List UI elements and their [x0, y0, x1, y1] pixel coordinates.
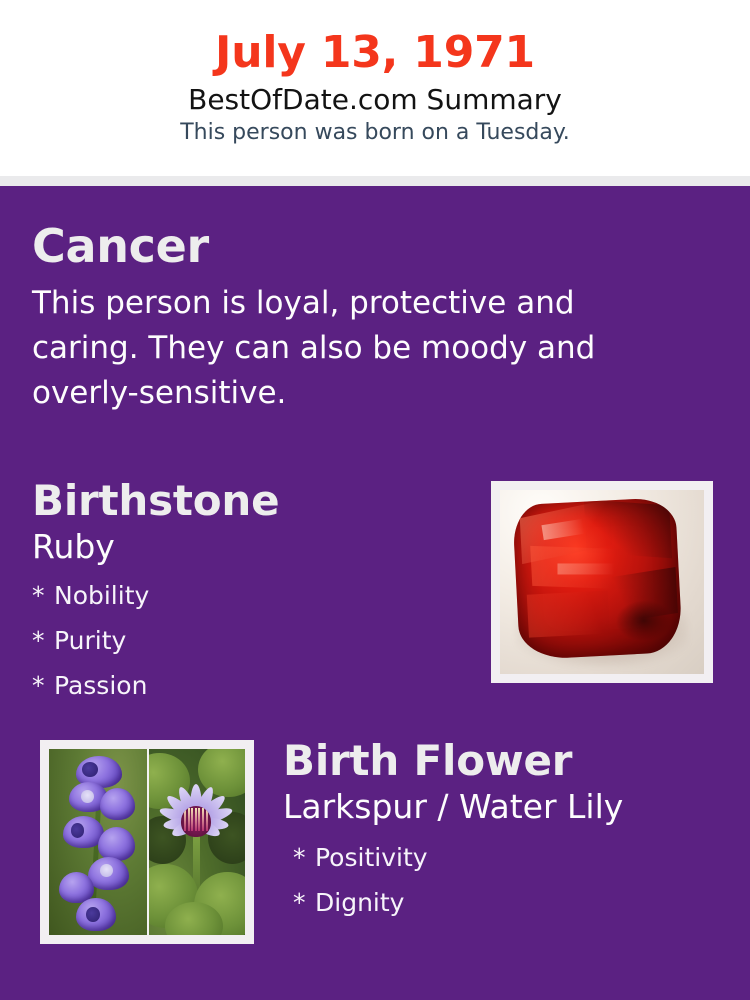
- list-item: *Passion: [32, 663, 472, 708]
- birth-flower-name: Larkspur / Water Lily: [283, 786, 733, 827]
- bullet-star-icon: *: [32, 663, 54, 708]
- birth-flower-heading: Birth Flower: [283, 736, 733, 786]
- list-item: *Nobility: [32, 573, 472, 618]
- birthstone-heading: Birthstone: [32, 476, 472, 526]
- gem-facet: [527, 590, 611, 637]
- list-item: *Positivity: [283, 835, 733, 880]
- birth-flower-trait-label: Positivity: [315, 843, 428, 872]
- page-title: July 13, 1971: [0, 0, 750, 79]
- bullet-star-icon: *: [32, 618, 54, 663]
- birthstone-trait-label: Passion: [54, 671, 147, 700]
- header-divider: [0, 176, 750, 186]
- birth-flower-trait-label: Dignity: [315, 888, 404, 917]
- summary-card: July 13, 1971 BestOfDate.com Summary Thi…: [0, 0, 750, 1000]
- ruby-gemstone-photo: [500, 490, 704, 674]
- birthstone-trait-list: *Nobility *Purity *Passion: [32, 567, 472, 708]
- larkspur-bloom: [100, 788, 135, 820]
- birth-flower-photo-pair: [49, 749, 245, 935]
- birthstone-name: Ruby: [32, 526, 472, 567]
- lily-stamen: [191, 808, 193, 831]
- lily-stamen: [198, 808, 200, 831]
- birth-flower-trait-list: *Positivity *Dignity: [283, 827, 733, 925]
- card-header: July 13, 1971 BestOfDate.com Summary Thi…: [0, 0, 750, 176]
- birthstone-trait-label: Purity: [54, 626, 126, 655]
- bullet-star-icon: *: [32, 573, 54, 618]
- lily-stamen: [188, 808, 190, 831]
- birthstone-section: Birthstone Ruby *Nobility *Purity *Passi…: [32, 476, 472, 708]
- zodiac-description: This person is loyal, protective and car…: [32, 273, 642, 416]
- bullet-star-icon: *: [293, 835, 315, 880]
- lily-stamen: [202, 808, 204, 831]
- larkspur-bloom: [98, 827, 135, 860]
- lily-flower-center: [181, 806, 211, 837]
- larkspur-bloom-shade: [82, 762, 98, 777]
- zodiac-section: Cancer This person is loyal, protective …: [32, 219, 652, 416]
- water-lily-bloom: [162, 781, 231, 855]
- gem-highlight: [558, 563, 620, 574]
- site-name: BestOfDate.com Summary: [0, 79, 750, 117]
- ruby-crystal: [512, 497, 683, 660]
- larkspur-bloom-highlight: [100, 864, 113, 877]
- photo-pair-divider: [147, 749, 149, 935]
- zodiac-sign-name: Cancer: [32, 219, 652, 273]
- gem-facet: [615, 599, 672, 642]
- lily-stamen: [206, 808, 208, 831]
- birth-flower-section: Birth Flower Larkspur / Water Lily *Posi…: [283, 736, 733, 925]
- lily-stamen: [195, 808, 197, 831]
- birth-flower-image-frame: [40, 740, 254, 944]
- larkspur-flower-photo: [49, 749, 147, 935]
- details-panel: Cancer This person is loyal, protective …: [0, 186, 750, 1000]
- birthstone-trait-label: Nobility: [54, 581, 149, 610]
- water-lily-flower-photo: [147, 749, 245, 935]
- larkspur-bloom-shade: [86, 907, 100, 922]
- list-item: *Dignity: [283, 880, 733, 925]
- bullet-star-icon: *: [293, 880, 315, 925]
- birth-weekday-text: This person was born on a Tuesday.: [0, 117, 750, 147]
- larkspur-bloom-highlight: [81, 790, 94, 803]
- birthstone-image-frame: [491, 481, 713, 683]
- list-item: *Purity: [32, 618, 472, 663]
- lily-stamen: [184, 808, 186, 831]
